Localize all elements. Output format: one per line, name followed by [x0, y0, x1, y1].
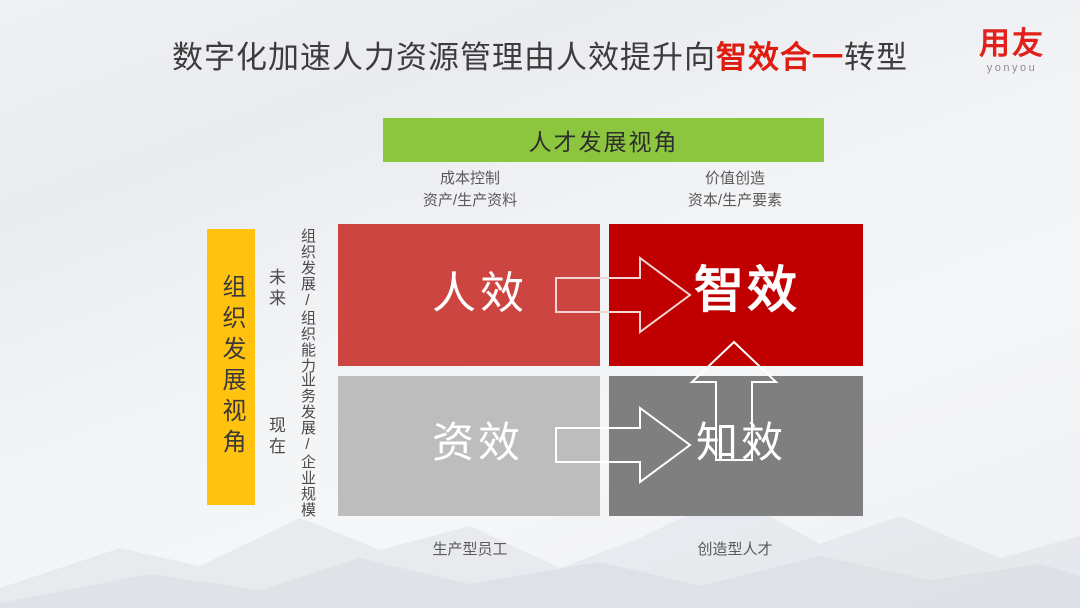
- quadrant-label-top-right: 智效: [694, 265, 800, 315]
- quadrant-label-bottom-right: 知效: [696, 422, 786, 464]
- logo-cn-text: 用友: [966, 28, 1058, 59]
- column-footer-right: 创造型人才: [605, 538, 865, 559]
- title-highlight: 智效合一: [716, 40, 844, 75]
- quadrant-label-top-left: 人效: [432, 272, 528, 316]
- row-label-present: 现在: [267, 416, 284, 458]
- column-header-right: 价值创造 资本/生产要素: [605, 168, 865, 212]
- row-detail-future: 组织发展/组织能力: [300, 228, 315, 374]
- title-prefix: 数字化加速人力资源管理由人效提升向: [172, 40, 716, 75]
- column-header-left: 成本控制 资产/生产资料: [340, 168, 600, 212]
- organization-perspective-bar: 组织发展视角: [207, 229, 255, 505]
- column-header-left-line1: 成本控制: [340, 168, 600, 190]
- talent-perspective-banner: 人才发展视角: [383, 118, 824, 162]
- quadrant-label-bottom-left: 资效: [432, 422, 524, 464]
- column-footer-left: 生产型员工: [340, 538, 600, 559]
- organization-perspective-label: 组织发展视角: [219, 274, 243, 460]
- logo-en-text: yonyou: [966, 63, 1058, 74]
- brand-logo: 用友 yonyou: [966, 28, 1058, 74]
- talent-perspective-label: 人才发展视角: [529, 123, 679, 157]
- column-header-left-line2: 资产/生产资料: [340, 190, 600, 212]
- column-header-right-line2: 资本/生产要素: [605, 190, 865, 212]
- page-title: 数字化加速人力资源管理由人效提升向智效合一转型: [0, 32, 1080, 77]
- slide-canvas: 数字化加速人力资源管理由人效提升向智效合一转型 用友 yonyou 人才发展视角…: [0, 0, 1080, 608]
- column-header-right-line1: 价值创造: [605, 168, 865, 190]
- row-detail-present: 业务发展/企业规模: [300, 372, 315, 518]
- title-suffix: 转型: [844, 40, 908, 75]
- row-label-future: 未来: [267, 268, 284, 310]
